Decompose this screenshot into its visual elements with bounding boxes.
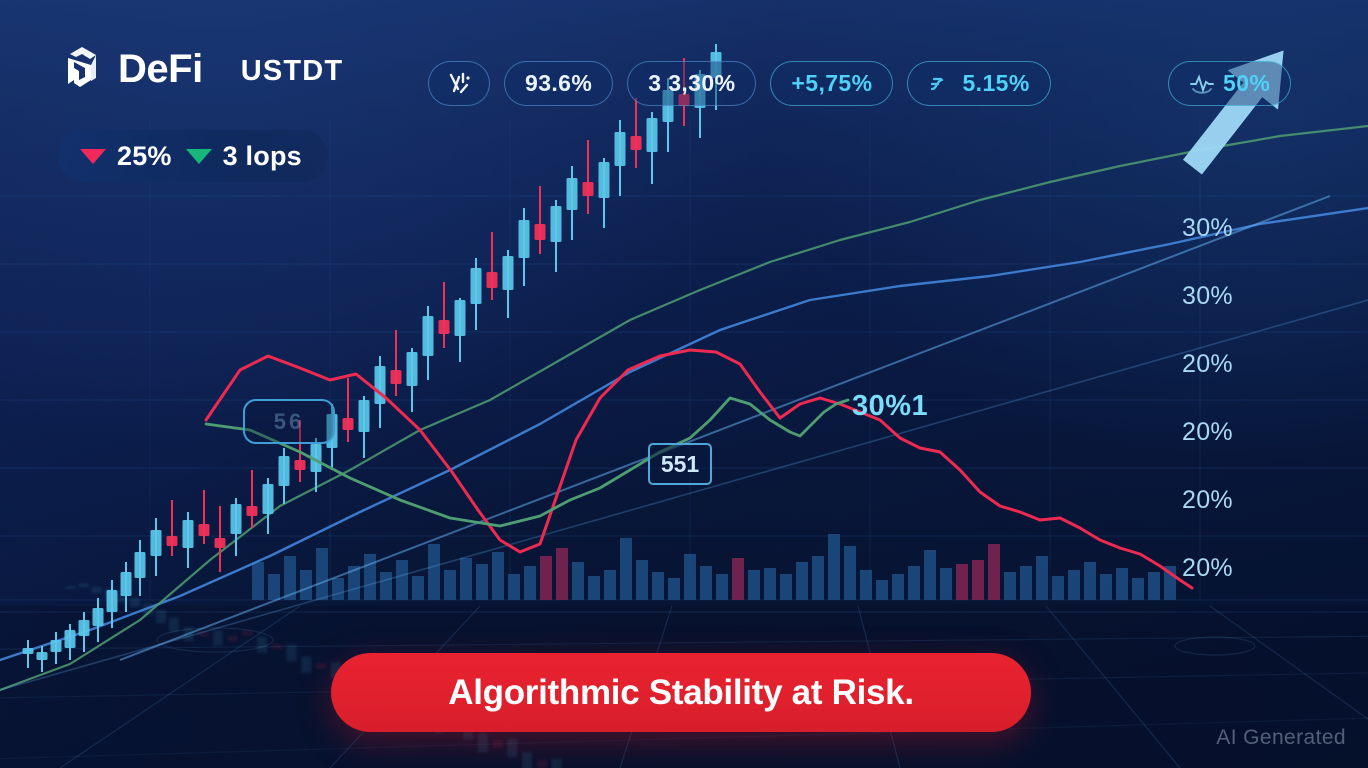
candlestick-chart-icon — [446, 71, 472, 97]
stat-pill-group: 93.6% 3 3,30% +5,75% 5.15% — [428, 61, 1051, 106]
candlestick-chart-icon-pill[interactable] — [428, 61, 490, 106]
chart-canvas: DeFi USTDT 93.6% 3 3,30% — [0, 0, 1368, 768]
triangle-down-red-icon — [80, 149, 106, 164]
stat-pill-right-value: 50% — [1223, 70, 1270, 97]
pulse-wave-icon — [1189, 71, 1215, 97]
annotation-value-box[interactable]: 551 — [648, 443, 712, 485]
ai-generated-watermark: AI Generated — [1216, 726, 1346, 750]
delta-chip-1[interactable]: 25% — [80, 141, 172, 172]
stat-pill-4-value: 5.15% — [962, 70, 1029, 97]
alert-banner-text: Algorithmic Stability at Risk. — [448, 673, 914, 713]
brand-name: DeFi — [118, 49, 203, 89]
stat-pill-right[interactable]: 50% — [1168, 61, 1291, 106]
stat-pill-2[interactable]: 3 3,30% — [627, 61, 756, 106]
trend-icon — [928, 71, 954, 97]
defi-hexagon-logo-icon — [58, 44, 102, 94]
delta-chip-2[interactable]: 3 lops — [186, 141, 302, 172]
stat-pill-4[interactable]: 5.15% — [907, 61, 1050, 106]
stat-pill-2-value: 3 3,30% — [648, 70, 735, 97]
header-bar: DeFi USTDT 93.6% 3 3,30% — [0, 0, 1368, 120]
brand-block: DeFi USTDT — [58, 44, 343, 94]
triangle-down-green-icon — [186, 149, 212, 164]
alert-banner[interactable]: Algorithmic Stability at Risk. — [331, 653, 1031, 732]
delta-chip-group: 25% 3 lops — [58, 130, 328, 182]
annotation-tooltip-bubble[interactable]: 56 — [243, 399, 335, 444]
delta-chip-1-label: 25% — [117, 141, 172, 172]
annotation-30-percent: 30%1 — [852, 390, 928, 423]
stat-pill-1-value: 93.6% — [525, 70, 592, 97]
stat-pill-1[interactable]: 93.6% — [504, 61, 613, 106]
ticker-symbol: USTDT — [241, 57, 344, 86]
stat-pill-3-value: +5,75% — [791, 70, 872, 97]
delta-chip-2-label: 3 lops — [223, 141, 302, 172]
stat-pill-3[interactable]: +5,75% — [770, 61, 893, 106]
